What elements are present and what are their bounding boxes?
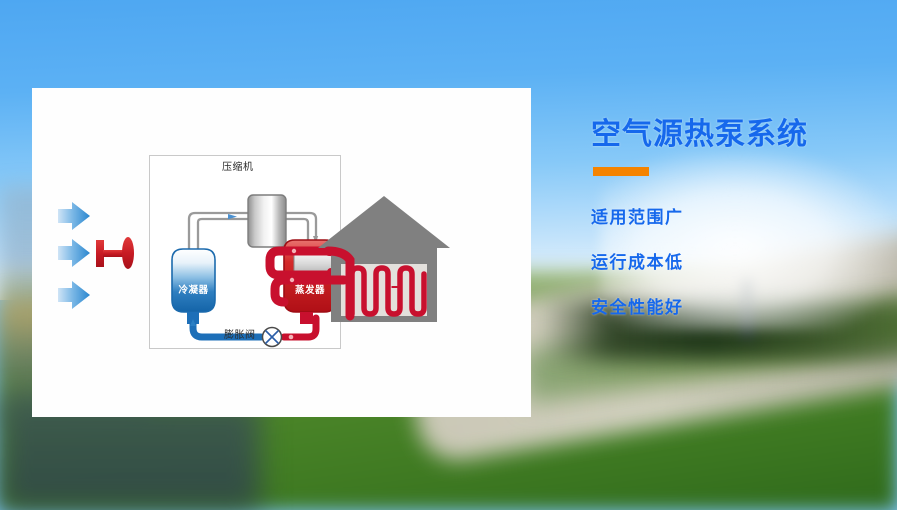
expansion-valve-icon [263,328,282,347]
text-column: 空气源热泵系统 适用范围广 运行成本低 安全性能好 [591,118,891,318]
bullet-item-1: 适用范围广 [591,203,891,228]
accent-bar [593,167,649,176]
compressor-label: 压缩机 [222,158,254,173]
fan-icon [96,237,134,269]
compressor-icon [248,195,286,247]
slide-canvas: 压缩机 膨胀阀 冷凝器 蒸发器 空气源热泵系统 适用范围广 运行成本低 安全性能… [0,0,897,510]
house-icon [318,196,450,322]
diagram-card: 压缩机 膨胀阀 冷凝器 蒸发器 [32,88,531,417]
flow-marker [292,249,296,253]
page-title: 空气源热泵系统 [591,118,891,153]
bullet-item-2: 运行成本低 [591,248,891,273]
floor-heating-coil-icon [352,268,424,314]
diagram-artwork [32,88,531,417]
flow-marker [289,335,294,340]
condenser-label: 冷凝器 [172,282,215,296]
bullet-item-3: 安全性能好 [591,293,891,318]
evaporator-label: 蒸发器 [284,282,336,296]
expansion-valve-label: 膨胀阀 [224,326,256,341]
air-flow-arrow-icon [58,202,90,309]
heat-pump-diagram: 压缩机 膨胀阀 冷凝器 蒸发器 [32,88,531,417]
